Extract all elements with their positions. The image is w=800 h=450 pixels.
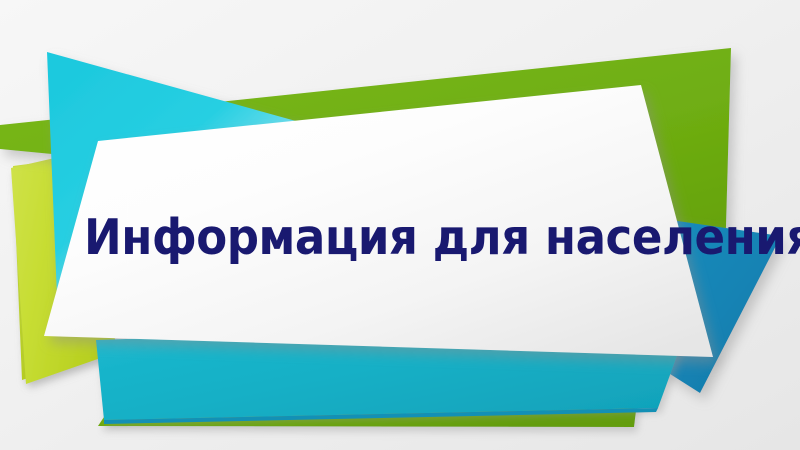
background-shapes [0, 0, 800, 450]
banner-image: Информация для населения [0, 0, 800, 450]
